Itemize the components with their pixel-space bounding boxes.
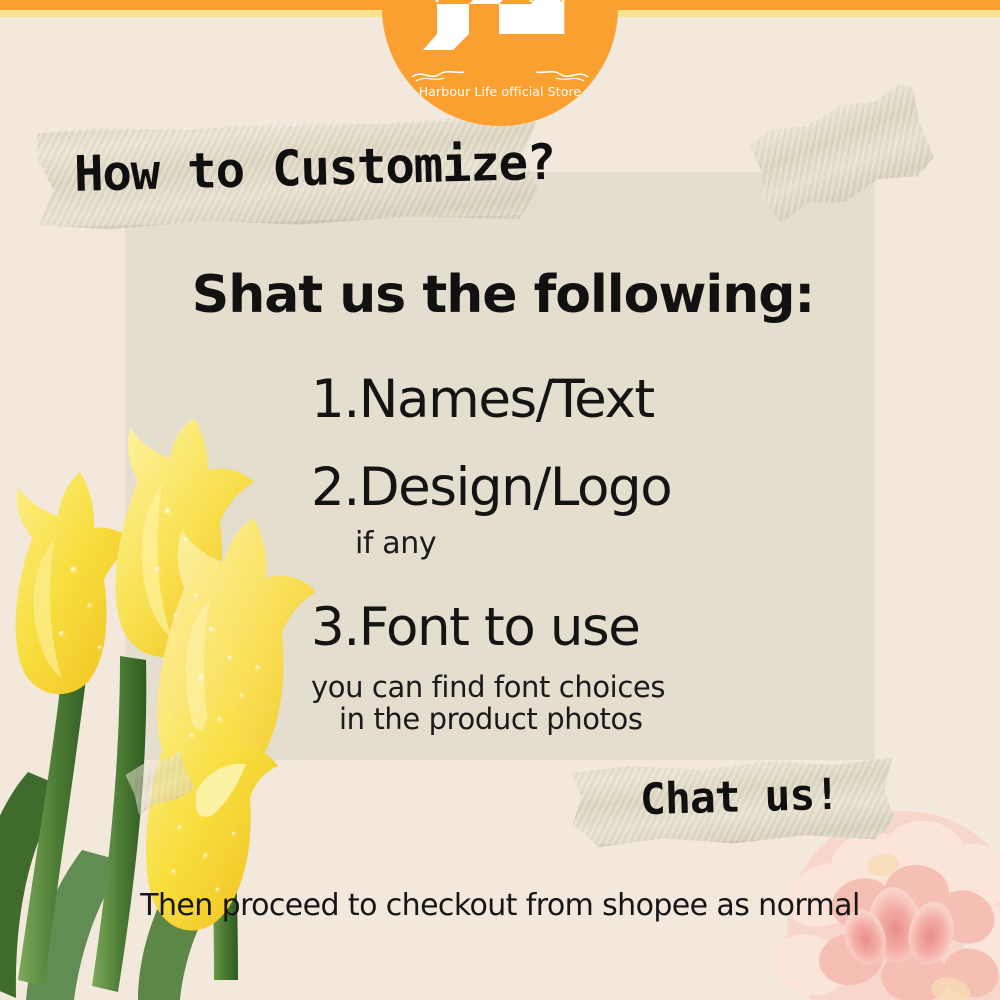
chat-us-label[interactable]: Chat us! [639,769,870,825]
list-item-2-note: if any [355,526,436,561]
store-logo-badge: Harbour Life official Store [382,0,618,126]
wave-flourish-icon-left [410,68,466,82]
promo-canvas: How to Customize? Chat us! [0,0,1000,1000]
wave-flourish-icon-right [534,68,590,82]
list-item-1: 1.Names/Text [311,372,654,427]
list-item-3: 3.Font to use [311,600,639,655]
store-name-label: Harbour Life official Store [382,84,618,99]
footer-note: Then proceed to checkout from shopee as … [0,888,1000,923]
list-item-3-note-line2: in the product photos [339,702,643,736]
badge-content: Harbour Life official Store [382,0,618,126]
list-item-3-note-line1: you can find font choices [311,670,665,704]
harbour-life-monogram-icon [407,0,593,56]
subheading: Shat us the following: [0,265,1000,325]
page-title: How to Customize? [73,134,534,203]
list-item-2: 2.Design/Logo [311,460,671,515]
